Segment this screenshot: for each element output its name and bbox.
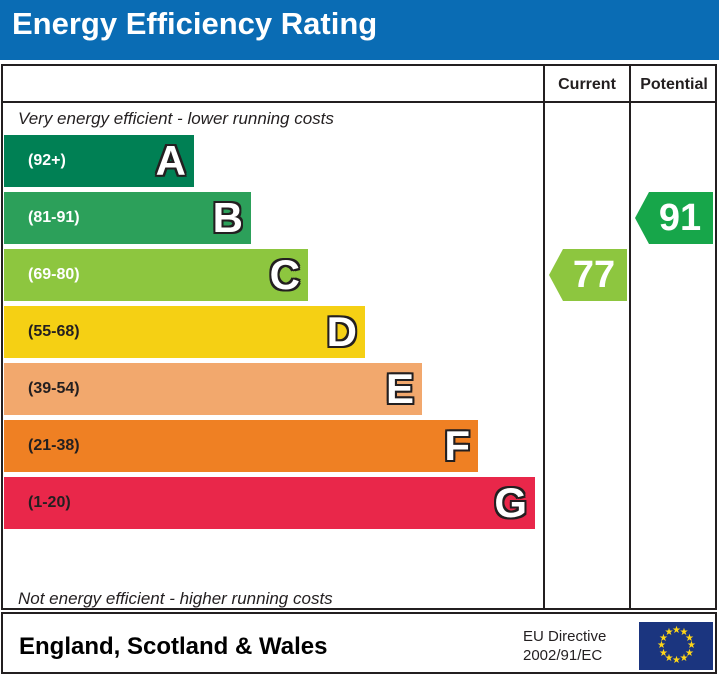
band-e: (39-54)E bbox=[4, 363, 422, 415]
band-range-a: (92+) bbox=[28, 152, 66, 170]
title-bar: Energy Efficiency Rating bbox=[0, 0, 719, 60]
eu-star-icon: ★ bbox=[672, 657, 680, 665]
band-f: (21-38)F bbox=[4, 420, 478, 472]
caption-bottom: Not energy efficient - higher running co… bbox=[18, 589, 333, 609]
band-range-d: (55-68) bbox=[28, 323, 80, 341]
band-letter-g: G bbox=[494, 482, 527, 524]
caption-top: Very energy efficient - lower running co… bbox=[18, 109, 334, 129]
band-letter-f: F bbox=[444, 425, 470, 467]
band-letter-c: C bbox=[270, 254, 300, 296]
band-range-c: (69-80) bbox=[28, 266, 80, 284]
eu-star-icon: ★ bbox=[665, 629, 673, 637]
current-rating-arrow: 77 bbox=[549, 249, 627, 301]
page-title: Energy Efficiency Rating bbox=[12, 6, 377, 42]
band-letter-d: D bbox=[327, 311, 357, 353]
eu-flag-icon: ★★★★★★★★★★★★ bbox=[638, 621, 714, 671]
current-rating-value: 77 bbox=[565, 256, 623, 294]
column-header-current: Current bbox=[545, 73, 629, 97]
band-c: (69-80)C bbox=[4, 249, 308, 301]
current-column-divider bbox=[543, 64, 545, 610]
band-a: (92+)A bbox=[4, 135, 194, 187]
potential-column-divider bbox=[629, 64, 631, 610]
band-range-g: (1-20) bbox=[28, 494, 71, 512]
footer-directive-line2: 2002/91/EC bbox=[523, 646, 633, 665]
epc-certificate: Energy Efficiency Rating Current Potenti… bbox=[0, 0, 719, 675]
header-rule bbox=[1, 101, 717, 103]
band-letter-e: E bbox=[386, 368, 414, 410]
band-range-e: (39-54) bbox=[28, 380, 80, 398]
footer-region-label: England, Scotland & Wales bbox=[19, 633, 327, 661]
potential-rating-value: 91 bbox=[651, 199, 709, 237]
band-letter-a: A bbox=[156, 140, 186, 182]
band-d: (55-68)D bbox=[4, 306, 365, 358]
band-range-f: (21-38) bbox=[28, 437, 80, 455]
footer-bar: England, Scotland & Wales EU Directive 2… bbox=[1, 612, 717, 674]
column-header-potential: Potential bbox=[631, 73, 717, 97]
footer-directive-line1: EU Directive bbox=[523, 627, 633, 646]
band-letter-b: B bbox=[213, 197, 243, 239]
band-b: (81-91)B bbox=[4, 192, 251, 244]
band-range-b: (81-91) bbox=[28, 209, 80, 227]
footer-directive: EU Directive 2002/91/EC bbox=[523, 627, 633, 665]
band-g: (1-20)G bbox=[4, 477, 535, 529]
potential-rating-arrow: 91 bbox=[635, 192, 713, 244]
